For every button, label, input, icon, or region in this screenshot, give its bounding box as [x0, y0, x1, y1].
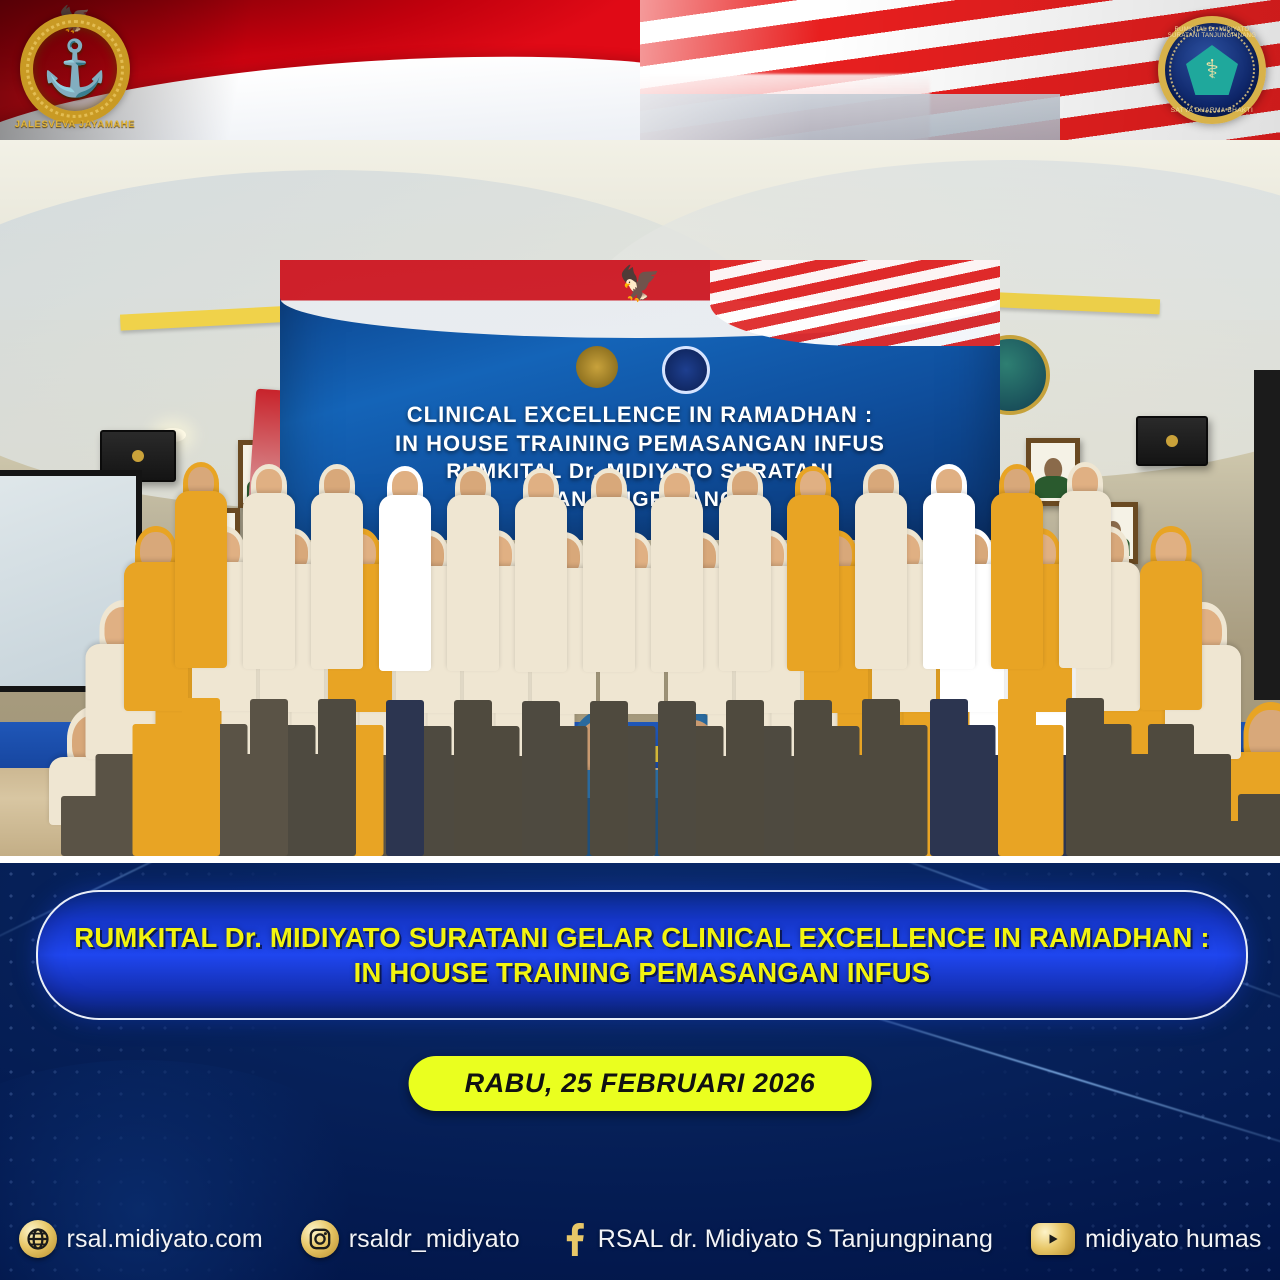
uniform-torso [1140, 561, 1202, 710]
social-item-facebook[interactable]: RSAL dr. Midiyato S Tanjungpinang [558, 1220, 993, 1258]
trousers [250, 699, 288, 856]
uniform-torso [651, 497, 703, 672]
event-group-photo: 🦅 CLINICAL EXCELLENCE IN RAMADHAN : IN H… [0, 140, 1280, 856]
person-figure [578, 468, 640, 856]
instagram-label: rsaldr_midiyato [349, 1225, 520, 1254]
person-figure [714, 466, 776, 856]
poster-root: 🦅 ⚓ JALESVEVA JAYAMAHE RUMKITAL Dr. MIDI… [0, 0, 1280, 1280]
trousers [182, 698, 220, 856]
date-badge: RABU, 25 FEBRUARI 2026 [409, 1056, 872, 1111]
trousers [1148, 724, 1194, 856]
trousers [794, 700, 832, 856]
trousers [930, 699, 968, 856]
emblem-bottom-text: SATYA DHARMA BHAKTI [1158, 107, 1266, 114]
social-item-youtube[interactable]: midiyato humas [1031, 1223, 1261, 1255]
person-figure [510, 468, 572, 856]
uniform-torso [379, 495, 431, 671]
caduceus-icon: ⚕ [1205, 54, 1219, 85]
headline-text: RUMKITAL Dr. MIDIYATO SURATANI GELAR CLI… [48, 920, 1235, 990]
uniform-torso [447, 495, 499, 671]
trousers [590, 701, 628, 856]
trousers [998, 699, 1036, 856]
uniform-torso [923, 493, 975, 669]
person-figure [1134, 526, 1208, 856]
trousers [862, 699, 900, 856]
headline-line-1: RUMKITAL Dr. MIDIYATO SURATANI GELAR CLI… [74, 922, 1209, 953]
person-figure [306, 464, 368, 856]
trousers [386, 700, 424, 856]
website-label: rsal.midiyato.com [67, 1225, 263, 1254]
date-text: RABU, 25 FEBRUARI 2026 [465, 1068, 816, 1099]
emblem-top-text: RUMKITAL Dr. MIDIYATO SURATANI TANJUNGPI… [1158, 27, 1266, 39]
trousers [522, 701, 560, 856]
person-figure [986, 464, 1048, 856]
tni-al-emblem: 🦅 ⚓ JALESVEVA JAYAMAHE [12, 6, 138, 132]
trousers [454, 700, 492, 856]
person-figure [374, 466, 436, 856]
person-figure [170, 462, 232, 856]
header-flag-band: 🦅 ⚓ JALESVEVA JAYAMAHE RUMKITAL Dr. MIDI… [0, 0, 1280, 140]
uniform-torso [719, 495, 771, 671]
uniform-torso [1059, 491, 1111, 668]
person-figure [646, 468, 708, 856]
person-figure [782, 466, 844, 856]
trousers [658, 701, 696, 856]
headline-banner: RUMKITAL Dr. MIDIYATO SURATANI GELAR CLI… [36, 890, 1248, 1020]
youtube-icon [1031, 1223, 1075, 1255]
social-item-website[interactable]: rsal.midiyato.com [19, 1220, 263, 1258]
facebook-label: RSAL dr. Midiyato S Tanjungpinang [598, 1225, 993, 1254]
person-figure [850, 464, 912, 856]
photo-divider [0, 856, 1280, 863]
uniform-torso [787, 495, 839, 671]
facebook-icon [558, 1220, 588, 1258]
uniform-torso [311, 493, 363, 669]
globe-icon [19, 1220, 57, 1258]
uniform-torso [243, 493, 295, 669]
backdrop-logo-tni [576, 346, 618, 388]
social-item-instagram[interactable]: rsaldr_midiyato [301, 1220, 520, 1258]
anchor-icon: ⚓ [41, 38, 108, 101]
uniform-torso [583, 497, 635, 672]
info-panel: RUMKITAL Dr. MIDIYATO SURATANI GELAR CLI… [0, 863, 1280, 1280]
uniform-torso [855, 493, 907, 669]
tni-motto-text: JALESVEVA JAYAMAHE [12, 119, 138, 130]
trousers [318, 699, 356, 856]
person-figure [918, 464, 980, 856]
rumkital-hospital-emblem: RUMKITAL Dr. MIDIYATO SURATANI TANJUNGPI… [1158, 16, 1266, 124]
headline-line-2: IN HOUSE TRAINING PEMASANGAN INFUS [354, 957, 931, 988]
instagram-icon [301, 1220, 339, 1258]
backdrop-stripes [710, 260, 1000, 346]
social-media-bar: rsal.midiyato.com rsaldr_midiyato RSAL d… [0, 1212, 1280, 1266]
uniform-torso [515, 497, 567, 672]
trousers [726, 700, 764, 856]
staff-group: [ [40,150,"#efe6d2","#5a5346","#d8a87a",… [0, 386, 1280, 856]
garuda-icon: 🦅 [619, 264, 661, 304]
uniform-torso [175, 491, 227, 668]
trousers [1066, 698, 1104, 856]
person-figure [238, 464, 300, 856]
person-figure [442, 466, 504, 856]
person-figure [1054, 462, 1116, 856]
uniform-torso [991, 493, 1043, 669]
youtube-label: midiyato humas [1085, 1225, 1261, 1254]
